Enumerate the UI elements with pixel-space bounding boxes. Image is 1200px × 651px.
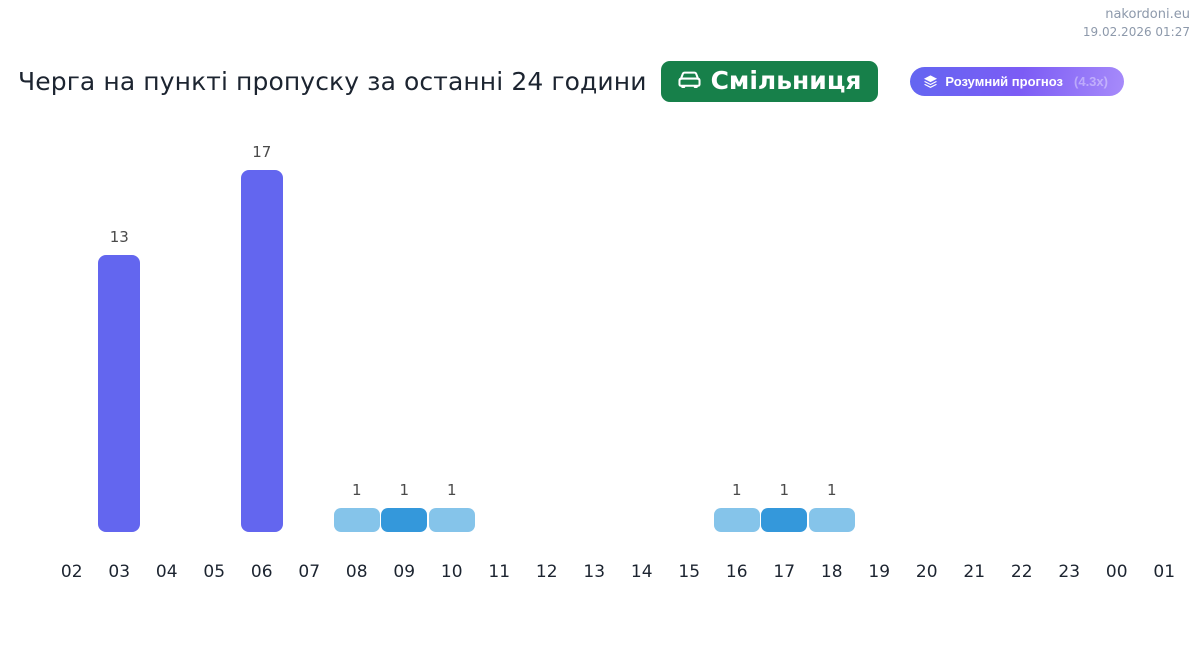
x-axis-tick: 00 xyxy=(1106,562,1128,582)
bar-slot xyxy=(381,120,429,532)
x-axis-tick: 14 xyxy=(631,562,653,582)
x-axis-tick: 23 xyxy=(1058,562,1080,582)
timestamp: 19.02.2026 01:27 xyxy=(1083,24,1190,40)
x-axis-tick: 18 xyxy=(821,562,843,582)
bar-value-label: 17 xyxy=(252,143,271,161)
x-axis-tick: 04 xyxy=(156,562,178,582)
smart-forecast-label: Розумний прогноз xyxy=(945,75,1063,88)
layers-icon xyxy=(923,74,938,89)
x-axis-tick: 21 xyxy=(963,562,985,582)
chart-bar[interactable] xyxy=(714,508,760,532)
car-icon xyxy=(676,69,703,91)
checkpoint-name: Смільниця xyxy=(711,68,862,93)
x-axis-tick: 09 xyxy=(393,562,415,582)
bar-slot xyxy=(238,120,286,532)
forecast-multiplier: (4.3x) xyxy=(1074,75,1108,88)
x-axis-tick: 05 xyxy=(203,562,225,582)
checkpoint-badge[interactable]: Смільниця xyxy=(661,61,879,102)
chart-bar[interactable] xyxy=(809,508,855,532)
bar-slot xyxy=(808,120,856,532)
x-axis-tick: 22 xyxy=(1011,562,1033,582)
chart-bar[interactable] xyxy=(429,508,475,532)
site-name: nakordoni.eu xyxy=(1083,6,1190,24)
watermark: nakordoni.eu 19.02.2026 01:27 xyxy=(1083,6,1190,40)
x-axis-tick: 20 xyxy=(916,562,938,582)
x-axis-tick: 11 xyxy=(488,562,510,582)
x-axis-tick: 15 xyxy=(678,562,700,582)
x-axis-tick: 03 xyxy=(108,562,130,582)
chart-bar[interactable] xyxy=(241,170,283,532)
x-axis-tick: 02 xyxy=(61,562,83,582)
chart-bar[interactable] xyxy=(381,508,427,532)
bar-value-label: 1 xyxy=(447,481,457,499)
chart-bar[interactable] xyxy=(98,255,140,532)
x-axis-tick: 07 xyxy=(298,562,320,582)
bar-value-label: 1 xyxy=(732,481,742,499)
x-axis-tick: 17 xyxy=(773,562,795,582)
x-axis-tick: 19 xyxy=(868,562,890,582)
bar-slot xyxy=(713,120,761,532)
bar-value-label: 1 xyxy=(399,481,409,499)
smart-forecast-button[interactable]: Розумний прогноз (4.3x) xyxy=(910,67,1124,96)
x-axis-tick: 16 xyxy=(726,562,748,582)
bar-value-label: 1 xyxy=(352,481,362,499)
chart-plot-area: 1317111111 xyxy=(48,120,1188,532)
queue-bar-chart: 1317111111 02030405060708091011121314151… xyxy=(0,120,1200,620)
bar-value-label: 13 xyxy=(110,228,129,246)
x-axis: 0203040506070809101112131415161718192021… xyxy=(48,562,1188,588)
x-axis-tick: 10 xyxy=(441,562,463,582)
bar-slot xyxy=(333,120,381,532)
x-axis-tick: 01 xyxy=(1153,562,1175,582)
x-axis-tick: 12 xyxy=(536,562,558,582)
x-axis-tick: 13 xyxy=(583,562,605,582)
header: Черга на пункті пропуску за останні 24 г… xyxy=(18,56,1190,106)
chart-bar[interactable] xyxy=(334,508,380,532)
x-axis-tick: 06 xyxy=(251,562,273,582)
bar-slot xyxy=(761,120,809,532)
x-axis-tick: 08 xyxy=(346,562,368,582)
chart-bar[interactable] xyxy=(761,508,807,532)
page-title: Черга на пункті пропуску за останні 24 г… xyxy=(18,67,647,96)
bar-value-label: 1 xyxy=(779,481,789,499)
bar-slot xyxy=(96,120,144,532)
bar-slot xyxy=(428,120,476,532)
bar-value-label: 1 xyxy=(827,481,837,499)
